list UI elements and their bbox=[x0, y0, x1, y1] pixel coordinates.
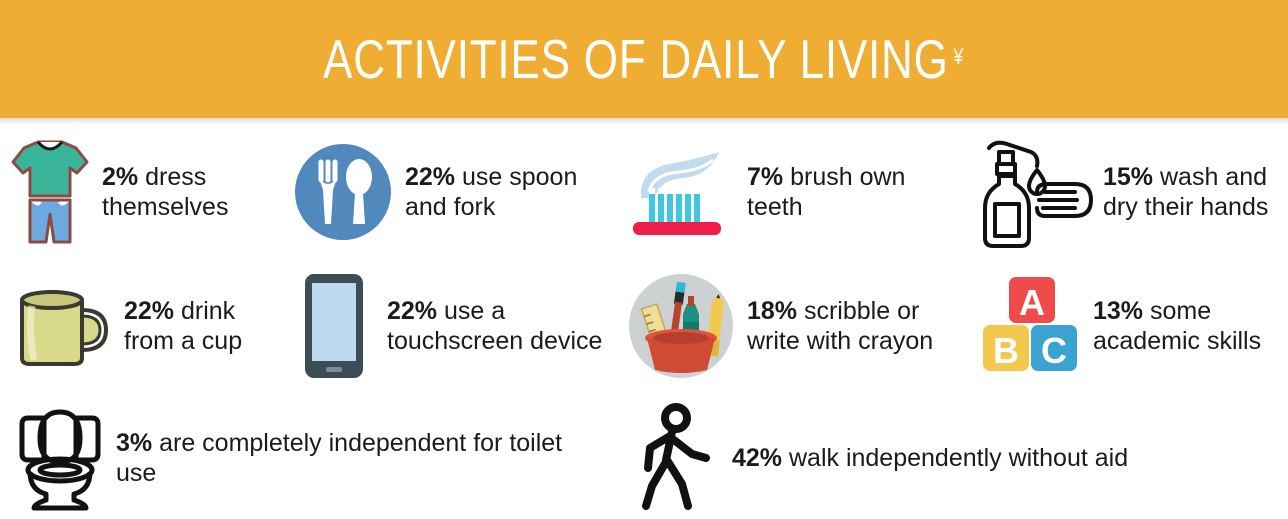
fact-spoon-fork-text: 22% use spoon and fork bbox=[405, 162, 615, 222]
fact-drink-cup-percent: 22% bbox=[124, 297, 181, 325]
header-banner: ACTIVITIES OF DAILY LIVING ¥ bbox=[0, 0, 1288, 118]
fact-scribble: 18% scribble or write with crayon bbox=[615, 256, 955, 396]
toothbrush-icon bbox=[625, 142, 737, 242]
fact-brush-teeth: 7% brush own teeth bbox=[615, 128, 955, 256]
fact-brush-teeth-text: 7% brush own teeth bbox=[747, 162, 955, 222]
fact-dress-percent: 2% bbox=[102, 163, 145, 191]
fact-scribble-text: 18% scribble or write with crayon bbox=[747, 296, 955, 356]
crayon-cup-circle-icon bbox=[625, 270, 737, 382]
fact-wash-hands: 15% wash and dry their hands bbox=[955, 128, 1288, 256]
facts-row-1: 2% dress themselves 22% use spoon a bbox=[0, 128, 1288, 256]
fact-touchscreen: 22% use a touchscreen device bbox=[285, 256, 615, 396]
facts-row-3: 3% are completely independent for toilet… bbox=[0, 396, 1288, 519]
facts-grid: 2% dress themselves 22% use spoon a bbox=[0, 124, 1288, 519]
fact-dress-text: 2% dress themselves bbox=[102, 162, 285, 222]
fact-academic-text: 13% some academic skills bbox=[1093, 296, 1288, 356]
page-title-text: ACTIVITIES OF DAILY LIVING bbox=[324, 27, 950, 91]
facts-row-2: 22% drink from a cup 22% use a touchscre… bbox=[0, 256, 1288, 396]
fact-toilet: 3% are completely independent for toilet… bbox=[0, 396, 600, 519]
fact-spoon-fork-percent: 22% bbox=[405, 163, 462, 191]
mug-icon bbox=[8, 280, 114, 372]
svg-text:C: C bbox=[1041, 330, 1067, 371]
page-title: ACTIVITIES OF DAILY LIVING ¥ bbox=[324, 27, 965, 91]
fact-wash-hands-text: 15% wash and dry their hands bbox=[1103, 162, 1288, 222]
fact-touchscreen-percent: 22% bbox=[387, 297, 444, 325]
fact-spoon-fork: 22% use spoon and fork bbox=[285, 128, 615, 256]
fact-wash-hands-percent: 15% bbox=[1103, 163, 1160, 191]
fact-brush-teeth-percent: 7% bbox=[747, 163, 790, 191]
fact-walk-text: 42% walk independently without aid bbox=[732, 443, 1128, 473]
tablet-icon bbox=[291, 270, 377, 382]
fact-scribble-percent: 18% bbox=[747, 297, 804, 325]
fact-toilet-text: 3% are completely independent for toilet… bbox=[116, 428, 600, 488]
walking-person-icon bbox=[630, 402, 722, 514]
fact-drink-cup: 22% drink from a cup bbox=[0, 256, 285, 396]
fact-academic-percent: 13% bbox=[1093, 297, 1150, 325]
fact-dress: 2% dress themselves bbox=[0, 128, 285, 256]
fact-toilet-percent: 3% bbox=[116, 429, 159, 457]
tshirt-and-jeans-icon bbox=[8, 136, 92, 248]
fact-walk-label: walk independently without aid bbox=[789, 444, 1128, 472]
svg-text:B: B bbox=[993, 330, 1019, 371]
fact-toilet-label: are completely independent for toilet us… bbox=[116, 429, 562, 487]
fact-walk: 42% walk independently without aid bbox=[600, 396, 1288, 519]
svg-text:A: A bbox=[1019, 282, 1045, 323]
soap-dispenser-and-hand-icon bbox=[973, 134, 1093, 250]
toilet-icon bbox=[14, 404, 106, 512]
fact-academic: A B C 13% some academic skills bbox=[955, 256, 1288, 396]
fact-drink-cup-text: 22% drink from a cup bbox=[124, 296, 285, 356]
fork-and-spoon-circle-icon bbox=[291, 140, 395, 244]
fact-walk-percent: 42% bbox=[732, 444, 789, 472]
abc-blocks-icon: A B C bbox=[973, 271, 1083, 381]
fact-touchscreen-text: 22% use a touchscreen device bbox=[387, 296, 615, 356]
yen-symbol-icon: ¥ bbox=[954, 44, 965, 70]
